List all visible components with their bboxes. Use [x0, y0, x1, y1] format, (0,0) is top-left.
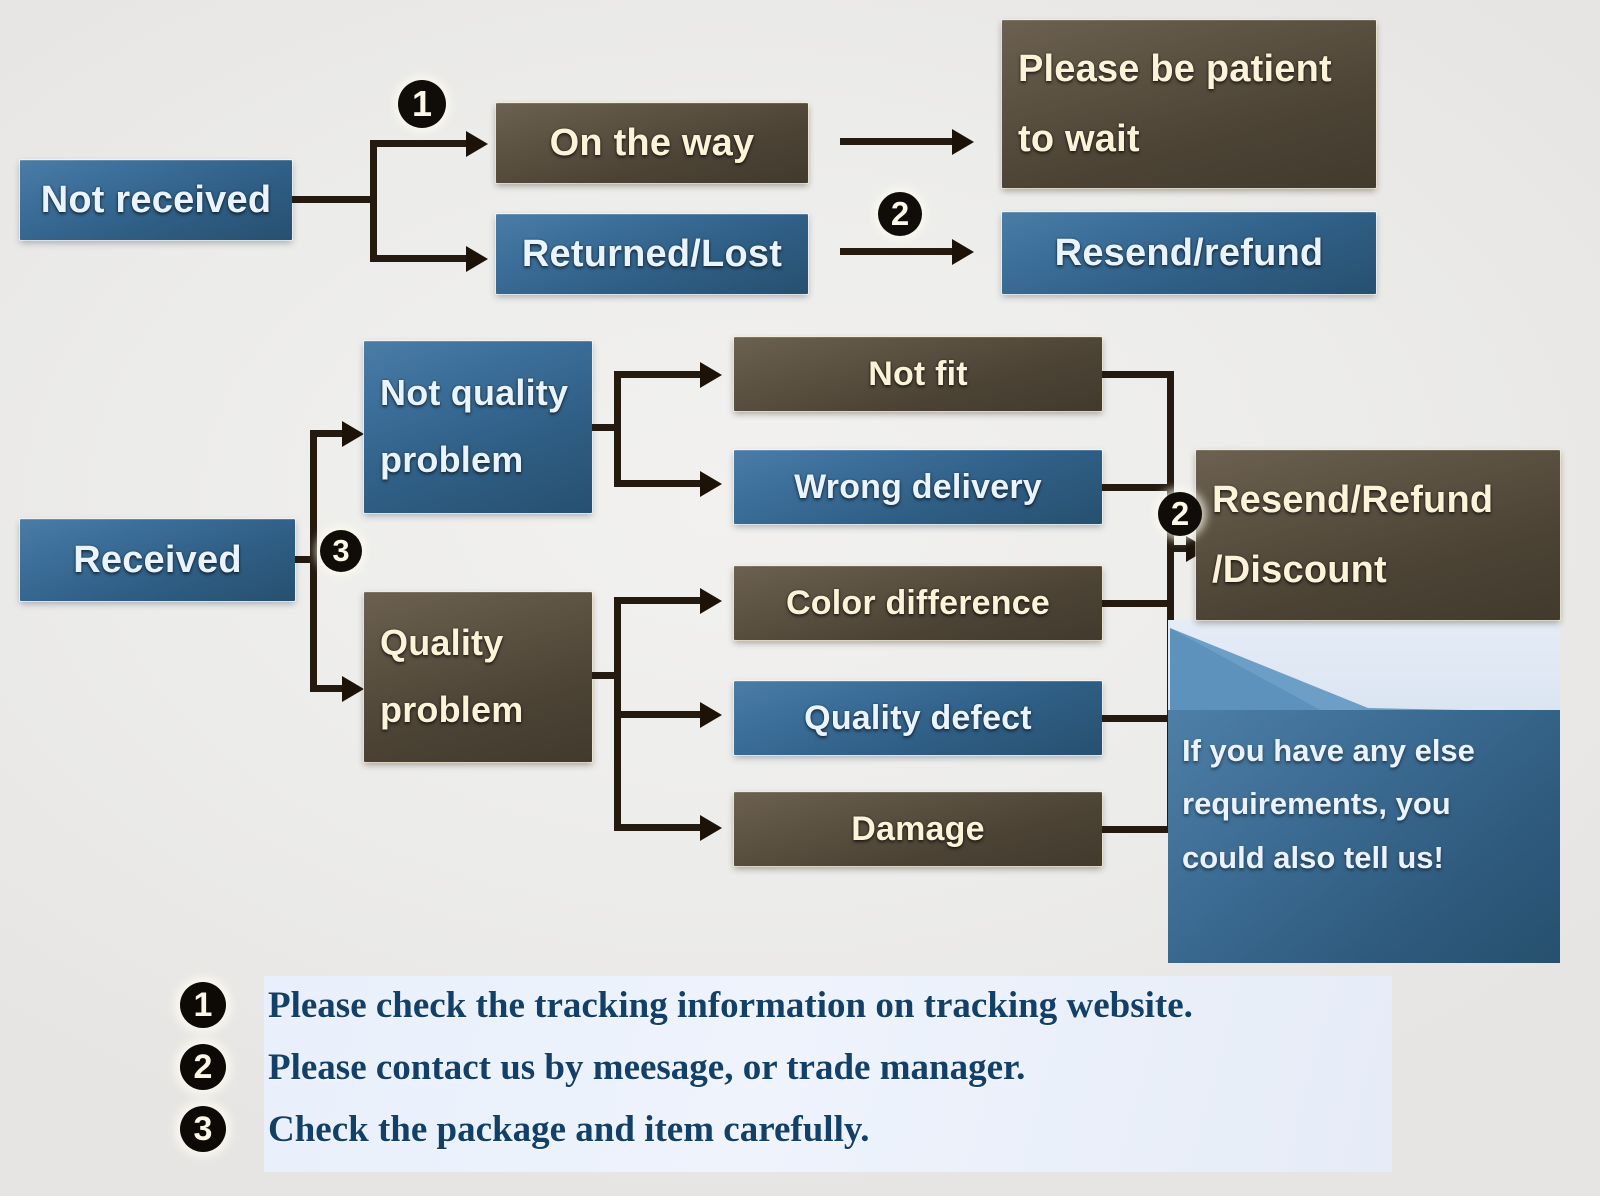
legend-item-3: 3 Check the package and item carefully. — [180, 1106, 870, 1152]
node-not-fit[interactable]: Not fit — [734, 337, 1102, 411]
connector-merge-not-fit — [1102, 371, 1174, 378]
connector-received-split — [310, 430, 317, 692]
node-damage[interactable]: Damage — [734, 792, 1102, 866]
arrow-to-quality-problem — [342, 676, 364, 702]
node-resend-refund-discount-line2: /Discount — [1196, 535, 1560, 605]
node-not-quality-problem-line2: problem — [364, 427, 592, 494]
note-line-3: could also tell us! — [1182, 831, 1548, 884]
node-quality-problem-line2: problem — [364, 677, 592, 744]
legend-item-1: 1 Please check the tracking information … — [180, 982, 1193, 1028]
legend-number-1: 1 — [180, 982, 226, 1028]
badge-step-2-contact-top: 2 — [878, 192, 922, 236]
arrow-to-quality-defect — [700, 702, 722, 728]
connector-merge-wrong-delivery — [1102, 484, 1174, 491]
arrow-returned-lost-to-resend — [952, 239, 974, 265]
badge-step-1-tracking: 1 — [398, 80, 446, 128]
connector-returned-lost-to-resend — [840, 248, 962, 255]
node-resend-refund-label: Resend/refund — [1002, 232, 1376, 275]
arrow-to-damage — [700, 815, 722, 841]
node-quality-defect-label: Quality defect — [734, 699, 1102, 738]
legend-text-3: Check the package and item carefully. — [268, 1108, 870, 1151]
node-returned-lost-label: Returned/Lost — [496, 233, 808, 276]
node-not-quality-problem[interactable]: Not quality problem — [364, 341, 592, 513]
connector-merge-damage — [1102, 826, 1174, 833]
note-body: If you have any else requirements, you c… — [1168, 710, 1560, 963]
note-line-1: If you have any else — [1182, 724, 1548, 777]
connector-q-to-quality-defect — [614, 711, 710, 718]
legend-item-2: 2 Please contact us by meesage, or trade… — [180, 1044, 1025, 1090]
arrow-to-wrong-delivery — [700, 471, 722, 497]
connector-merge-color-difference — [1102, 600, 1174, 607]
arrow-to-not-quality-problem — [342, 421, 364, 447]
connector-to-returned-lost — [370, 255, 478, 262]
node-received[interactable]: Received — [20, 519, 295, 601]
node-returned-lost[interactable]: Returned/Lost — [496, 214, 808, 294]
arrow-to-on-the-way — [466, 131, 488, 157]
connector-nq-split — [614, 371, 621, 487]
note-line-2: requirements, you — [1182, 777, 1548, 830]
node-quality-defect[interactable]: Quality defect — [734, 681, 1102, 755]
legend-number-3: 3 — [180, 1106, 226, 1152]
node-please-be-patient-to-wait[interactable]: Please be patient to wait — [1002, 20, 1376, 188]
node-not-fit-label: Not fit — [734, 355, 1102, 394]
connector-not-received-stem — [292, 196, 374, 203]
node-on-the-way[interactable]: On the way — [496, 103, 808, 183]
node-wrong-delivery[interactable]: Wrong delivery — [734, 450, 1102, 524]
connector-nq-to-wrong-delivery — [614, 480, 710, 487]
connector-to-on-the-way — [370, 140, 478, 147]
node-not-received[interactable]: Not received — [20, 160, 292, 240]
node-color-difference-label: Color difference — [734, 584, 1102, 623]
connector-on-the-way-to-wait — [840, 138, 962, 145]
node-resend-refund-discount-line1: Resend/Refund — [1196, 465, 1560, 535]
note-callout: If you have any else requirements, you c… — [1168, 620, 1560, 963]
node-please-be-patient-line1: Please be patient — [1002, 34, 1376, 104]
legend-text-2: Please contact us by meesage, or trade m… — [268, 1046, 1025, 1089]
node-on-the-way-label: On the way — [496, 122, 808, 165]
arrow-to-returned-lost — [466, 246, 488, 272]
legend-text-1: Please check the tracking information on… — [268, 984, 1193, 1027]
connector-q-to-damage — [614, 824, 710, 831]
flowchart-canvas: Not received 1 On the way Returned/Lost … — [0, 0, 1600, 1196]
connector-not-received-split — [370, 140, 377, 262]
node-quality-problem-line1: Quality — [364, 610, 592, 677]
node-damage-label: Damage — [734, 810, 1102, 849]
node-resend-refund-discount[interactable]: Resend/Refund /Discount — [1196, 450, 1560, 620]
legend-number-2: 2 — [180, 1044, 226, 1090]
connector-nq-to-not-fit — [614, 371, 710, 378]
badge-step-3-check-package: 3 — [320, 530, 362, 572]
node-resend-refund[interactable]: Resend/refund — [1002, 212, 1376, 294]
arrow-to-not-fit — [700, 362, 722, 388]
arrow-to-color-difference — [700, 588, 722, 614]
note-wedge-icon — [1168, 626, 1560, 714]
node-wrong-delivery-label: Wrong delivery — [734, 468, 1102, 507]
connector-merge-quality-defect — [1102, 715, 1174, 722]
node-quality-problem[interactable]: Quality problem — [364, 592, 592, 762]
node-not-quality-problem-line1: Not quality — [364, 360, 592, 427]
node-color-difference[interactable]: Color difference — [734, 566, 1102, 640]
node-not-received-label: Not received — [20, 179, 292, 222]
badge-step-2-contact-bottom: 2 — [1158, 492, 1202, 536]
node-received-label: Received — [20, 539, 295, 582]
arrow-on-the-way-to-wait — [952, 129, 974, 155]
connector-q-to-color-difference — [614, 597, 710, 604]
node-please-be-patient-line2: to wait — [1002, 104, 1376, 174]
